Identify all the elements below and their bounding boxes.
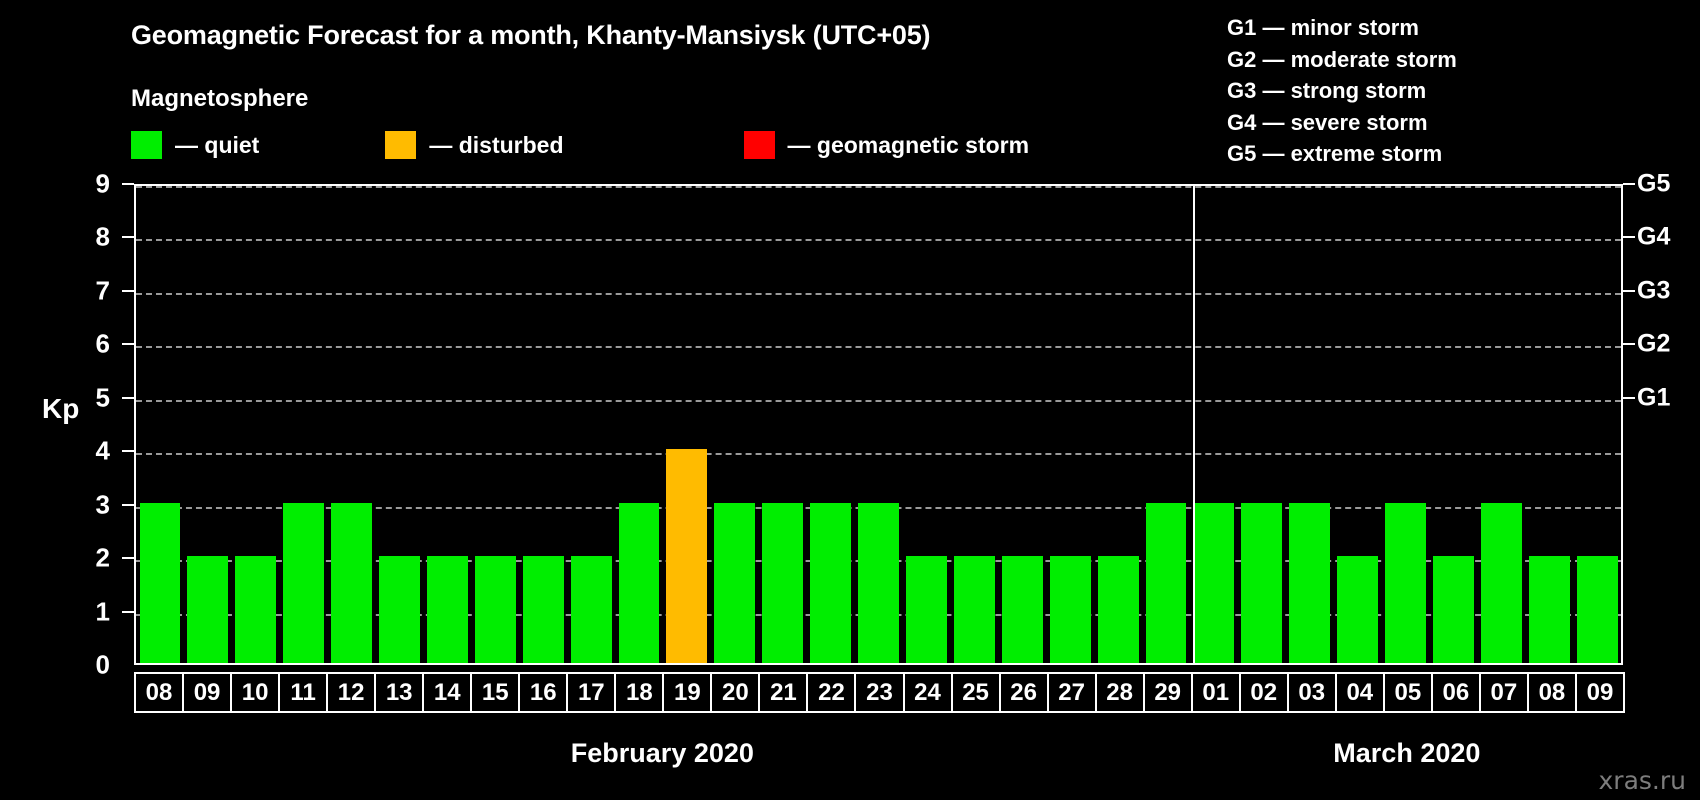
legend-entry-storm: — geomagnetic storm bbox=[744, 130, 1030, 160]
bar-february-25 bbox=[954, 556, 995, 663]
bar-cell bbox=[663, 186, 711, 663]
bar-cell bbox=[615, 186, 663, 663]
date-label-february-15: 15 bbox=[470, 672, 520, 713]
legend-label-disturbed: — disturbed bbox=[429, 132, 563, 159]
bar-cell bbox=[1525, 186, 1573, 663]
bar-cell bbox=[1238, 186, 1286, 663]
bar-cell bbox=[855, 186, 903, 663]
bar-march-02 bbox=[1241, 503, 1282, 663]
date-label-march-04: 04 bbox=[1335, 672, 1385, 713]
g-tick-mark-G5 bbox=[1623, 183, 1635, 185]
date-label-february-12: 12 bbox=[326, 672, 376, 713]
bar-march-03 bbox=[1289, 503, 1330, 663]
g-tick-mark-G3 bbox=[1623, 290, 1635, 292]
bar-cell bbox=[1477, 186, 1525, 663]
bar-february-17 bbox=[571, 556, 612, 663]
y-tick-label-5: 5 bbox=[70, 382, 110, 413]
legend-swatch-disturbed bbox=[385, 131, 416, 159]
date-label-february-21: 21 bbox=[758, 672, 808, 713]
bar-cell bbox=[1429, 186, 1477, 663]
y-tick-mark-4 bbox=[122, 450, 134, 452]
bar-cell bbox=[136, 186, 184, 663]
gscale-legend-line-1: G1 — minor storm bbox=[1227, 12, 1457, 44]
page-title: Geomagnetic Forecast for a month, Khanty… bbox=[131, 20, 930, 51]
gscale-legend-line-4: G4 — severe storm bbox=[1227, 107, 1457, 139]
bar-february-26 bbox=[1002, 556, 1043, 663]
bar-cell bbox=[807, 186, 855, 663]
y-tick-label-4: 4 bbox=[70, 436, 110, 467]
gscale-legend: G1 — minor stormG2 — moderate stormG3 — … bbox=[1227, 12, 1457, 170]
legend-swatch-storm bbox=[744, 131, 775, 159]
y-tick-mark-1 bbox=[122, 611, 134, 613]
bar-cell bbox=[998, 186, 1046, 663]
gscale-legend-line-2: G2 — moderate storm bbox=[1227, 44, 1457, 76]
g-tick-mark-G1 bbox=[1623, 397, 1635, 399]
bar-cell bbox=[328, 186, 376, 663]
date-label-february-14: 14 bbox=[422, 672, 472, 713]
y-tick-label-8: 8 bbox=[70, 222, 110, 253]
date-label-march-09: 09 bbox=[1575, 672, 1625, 713]
bar-cell bbox=[1573, 186, 1621, 663]
legend-label-storm: — geomagnetic storm bbox=[788, 132, 1030, 159]
gscale-legend-line-5: G5 — extreme storm bbox=[1227, 138, 1457, 170]
magnetosphere-heading: Magnetosphere bbox=[131, 85, 308, 113]
date-label-february-26: 26 bbox=[999, 672, 1049, 713]
date-label-february-13: 13 bbox=[374, 672, 424, 713]
g-tick-label-G3: G3 bbox=[1637, 276, 1670, 305]
bar-cell bbox=[759, 186, 807, 663]
date-label-february-20: 20 bbox=[710, 672, 760, 713]
bar-february-15 bbox=[475, 556, 516, 663]
date-label-february-25: 25 bbox=[951, 672, 1001, 713]
date-label-february-28: 28 bbox=[1095, 672, 1145, 713]
bar-cell bbox=[1094, 186, 1142, 663]
date-label-march-02: 02 bbox=[1239, 672, 1289, 713]
bar-march-06 bbox=[1433, 556, 1474, 663]
date-label-february-10: 10 bbox=[230, 672, 280, 713]
date-label-february-23: 23 bbox=[854, 672, 904, 713]
plot-inner bbox=[136, 186, 1621, 663]
bar-cell bbox=[519, 186, 567, 663]
date-label-march-01: 01 bbox=[1191, 672, 1241, 713]
y-tick-label-0: 0 bbox=[70, 650, 110, 681]
bar-february-20 bbox=[714, 503, 755, 663]
month-caption-march: March 2020 bbox=[1333, 738, 1480, 769]
bar-february-29 bbox=[1146, 503, 1187, 663]
bar-cell bbox=[1286, 186, 1334, 663]
bar-march-01 bbox=[1193, 503, 1234, 663]
y-tick-mark-9 bbox=[122, 183, 134, 185]
y-tick-label-7: 7 bbox=[70, 275, 110, 306]
bar-february-18 bbox=[619, 503, 660, 663]
date-label-february-08: 08 bbox=[134, 672, 184, 713]
y-tick-mark-8 bbox=[122, 236, 134, 238]
date-label-march-06: 06 bbox=[1431, 672, 1481, 713]
bar-cell bbox=[232, 186, 280, 663]
date-label-march-07: 07 bbox=[1479, 672, 1529, 713]
bar-march-09 bbox=[1577, 556, 1618, 663]
gscale-legend-line-3: G3 — strong storm bbox=[1227, 75, 1457, 107]
bar-february-08 bbox=[140, 503, 181, 663]
y-tick-mark-6 bbox=[122, 343, 134, 345]
bar-february-11 bbox=[283, 503, 324, 663]
bar-cell bbox=[1334, 186, 1382, 663]
y-tick-label-3: 3 bbox=[70, 489, 110, 520]
bar-february-23 bbox=[858, 503, 899, 663]
date-label-february-09: 09 bbox=[182, 672, 232, 713]
date-label-march-05: 05 bbox=[1383, 672, 1433, 713]
date-label-february-27: 27 bbox=[1047, 672, 1097, 713]
date-label-february-17: 17 bbox=[566, 672, 616, 713]
bar-march-05 bbox=[1385, 503, 1426, 663]
bar-february-28 bbox=[1098, 556, 1139, 663]
plot-area bbox=[134, 184, 1623, 665]
y-tick-label-1: 1 bbox=[70, 596, 110, 627]
bar-february-21 bbox=[762, 503, 803, 663]
g-tick-label-G2: G2 bbox=[1637, 330, 1670, 359]
bar-cell bbox=[1142, 186, 1190, 663]
date-label-february-19: 19 bbox=[662, 672, 712, 713]
bar-february-24 bbox=[906, 556, 947, 663]
bar-march-07 bbox=[1481, 503, 1522, 663]
month-divider-line bbox=[1193, 186, 1195, 663]
date-label-february-18: 18 bbox=[614, 672, 664, 713]
bar-february-13 bbox=[379, 556, 420, 663]
bar-february-10 bbox=[235, 556, 276, 663]
bar-february-16 bbox=[523, 556, 564, 663]
bar-cell bbox=[1382, 186, 1430, 663]
bar-february-09 bbox=[187, 556, 228, 663]
bar-march-04 bbox=[1337, 556, 1378, 663]
date-label-march-03: 03 bbox=[1287, 672, 1337, 713]
bar-series bbox=[136, 186, 1621, 663]
bar-cell bbox=[280, 186, 328, 663]
month-caption-february: February 2020 bbox=[571, 738, 754, 769]
bar-cell bbox=[950, 186, 998, 663]
g-tick-label-G5: G5 bbox=[1637, 170, 1670, 199]
bar-cell bbox=[376, 186, 424, 663]
bar-cell bbox=[711, 186, 759, 663]
y-tick-mark-2 bbox=[122, 557, 134, 559]
bar-cell bbox=[567, 186, 615, 663]
bar-february-19 bbox=[666, 449, 707, 663]
date-label-february-16: 16 bbox=[518, 672, 568, 713]
bar-cell bbox=[423, 186, 471, 663]
legend-entry-disturbed: — disturbed bbox=[385, 130, 563, 160]
bar-february-12 bbox=[331, 503, 372, 663]
bar-february-22 bbox=[810, 503, 851, 663]
y-tick-mark-7 bbox=[122, 290, 134, 292]
date-label-february-11: 11 bbox=[278, 672, 328, 713]
legend-swatch-quiet bbox=[131, 131, 162, 159]
y-tick-mark-5 bbox=[122, 397, 134, 399]
legend-label-quiet: — quiet bbox=[175, 132, 259, 159]
date-axis: 0809101112131415161718192021222324252627… bbox=[134, 672, 1623, 713]
date-label-march-08: 08 bbox=[1527, 672, 1577, 713]
bar-cell bbox=[1190, 186, 1238, 663]
g-tick-mark-G4 bbox=[1623, 236, 1635, 238]
bar-february-27 bbox=[1050, 556, 1091, 663]
date-label-february-22: 22 bbox=[806, 672, 856, 713]
bar-cell bbox=[471, 186, 519, 663]
y-tick-label-9: 9 bbox=[70, 169, 110, 200]
y-tick-mark-3 bbox=[122, 504, 134, 506]
y-tick-label-2: 2 bbox=[70, 543, 110, 574]
bar-cell bbox=[184, 186, 232, 663]
date-label-february-29: 29 bbox=[1143, 672, 1193, 713]
magnetosphere-legend: — quiet— disturbed— geomagnetic storm bbox=[131, 130, 1029, 160]
g-tick-mark-G2 bbox=[1623, 343, 1635, 345]
bar-march-08 bbox=[1529, 556, 1570, 663]
watermark: xras.ru bbox=[1599, 766, 1687, 795]
g-tick-label-G4: G4 bbox=[1637, 223, 1670, 252]
g-tick-label-G1: G1 bbox=[1637, 383, 1670, 412]
geomagnetic-forecast-chart: Geomagnetic Forecast for a month, Khanty… bbox=[0, 0, 1700, 800]
bar-february-14 bbox=[427, 556, 468, 663]
bar-cell bbox=[903, 186, 951, 663]
date-label-february-24: 24 bbox=[903, 672, 953, 713]
y-tick-label-6: 6 bbox=[70, 329, 110, 360]
legend-entry-quiet: — quiet bbox=[131, 130, 259, 160]
bar-cell bbox=[1046, 186, 1094, 663]
